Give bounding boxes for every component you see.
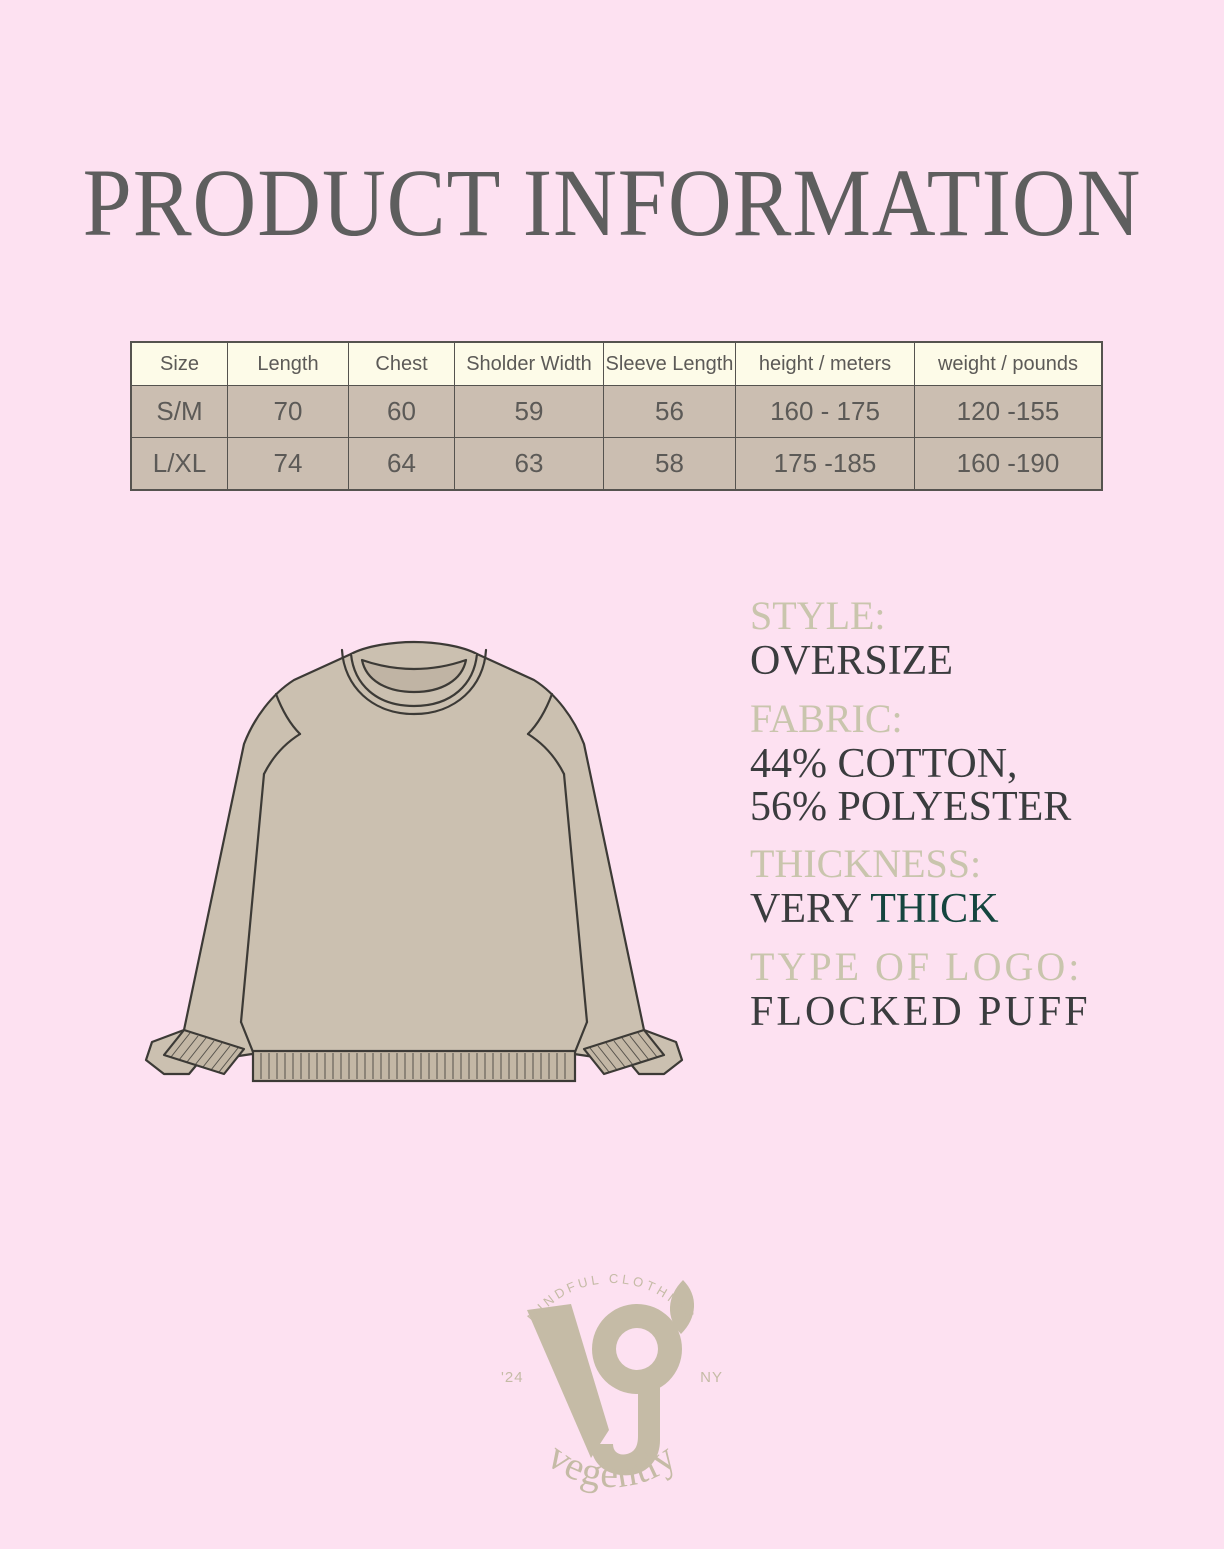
- spec-value-logo-type: FLOCKED PUFF: [750, 991, 1130, 1034]
- spec-label-logo-type: TYPE OF LOGO:: [750, 947, 1130, 987]
- table-header-row: Size Length Chest Sholder Width Sleeve L…: [131, 342, 1102, 386]
- logo-year-text: '24: [501, 1369, 524, 1386]
- spec-value-thickness: VERY THICK: [750, 888, 1130, 931]
- cell-weight: 120 -155: [915, 386, 1103, 438]
- brand-logo: MINDFUL CLOTHING vegently '24 NY: [487, 1252, 737, 1502]
- column-header-chest: Chest: [349, 342, 455, 386]
- cell-shoulder-width: 59: [455, 386, 604, 438]
- spec-value-thickness-accent: THICK: [870, 886, 998, 932]
- column-header-length: Length: [228, 342, 349, 386]
- cell-shoulder-width: 63: [455, 438, 604, 491]
- spec-label-thickness: THICKNESS:: [750, 844, 1130, 884]
- spec-value-fabric: 44% COTTON, 56% POLYESTER: [750, 743, 1130, 829]
- cell-weight: 160 -190: [915, 438, 1103, 491]
- cell-length: 70: [228, 386, 349, 438]
- cell-size: L/XL: [131, 438, 228, 491]
- cell-length: 74: [228, 438, 349, 491]
- spec-value-fabric-line1: 44% COTTON,: [750, 741, 1018, 787]
- logo-bottom-arc-text: vegently: [540, 1433, 685, 1496]
- column-header-size: Size: [131, 342, 228, 386]
- cell-chest: 60: [349, 386, 455, 438]
- vg-monogram: [527, 1280, 694, 1475]
- product-specs: STYLE: OVERSIZE FABRIC: 44% COTTON, 56% …: [750, 596, 1130, 1050]
- spec-label-style: STYLE:: [750, 596, 1130, 636]
- crewneck-sweatshirt-icon: [104, 622, 724, 1122]
- cell-size: S/M: [131, 386, 228, 438]
- spec-value-fabric-line2: 56% POLYESTER: [750, 784, 1071, 830]
- cell-sleeve-length: 56: [604, 386, 736, 438]
- column-header-sleeve-length: Sleeve Length: [604, 342, 736, 386]
- column-header-weight: weight / pounds: [915, 342, 1103, 386]
- page-title: PRODUCT INFORMATION: [49, 155, 1175, 251]
- hem-rib: [253, 1051, 575, 1081]
- size-chart-table: Size Length Chest Sholder Width Sleeve L…: [130, 341, 1103, 491]
- spec-value-thickness-prefix: VERY: [750, 886, 870, 932]
- cell-sleeve-length: 58: [604, 438, 736, 491]
- column-header-height: height / meters: [736, 342, 915, 386]
- sweatshirt-illustration: [104, 622, 724, 1122]
- cell-chest: 64: [349, 438, 455, 491]
- table-row: L/XL 74 64 63 58 175 -185 160 -190: [131, 438, 1102, 491]
- column-header-shoulder-width: Sholder Width: [455, 342, 604, 386]
- vegently-badge-icon: MINDFUL CLOTHING vegently '24 NY: [487, 1252, 737, 1502]
- logo-location-text: NY: [700, 1369, 723, 1386]
- spec-value-style: OVERSIZE: [750, 640, 1130, 683]
- table-row: S/M 70 60 59 56 160 - 175 120 -155: [131, 386, 1102, 438]
- cell-height: 175 -185: [736, 438, 915, 491]
- spec-label-fabric: FABRIC:: [750, 699, 1130, 739]
- cell-height: 160 - 175: [736, 386, 915, 438]
